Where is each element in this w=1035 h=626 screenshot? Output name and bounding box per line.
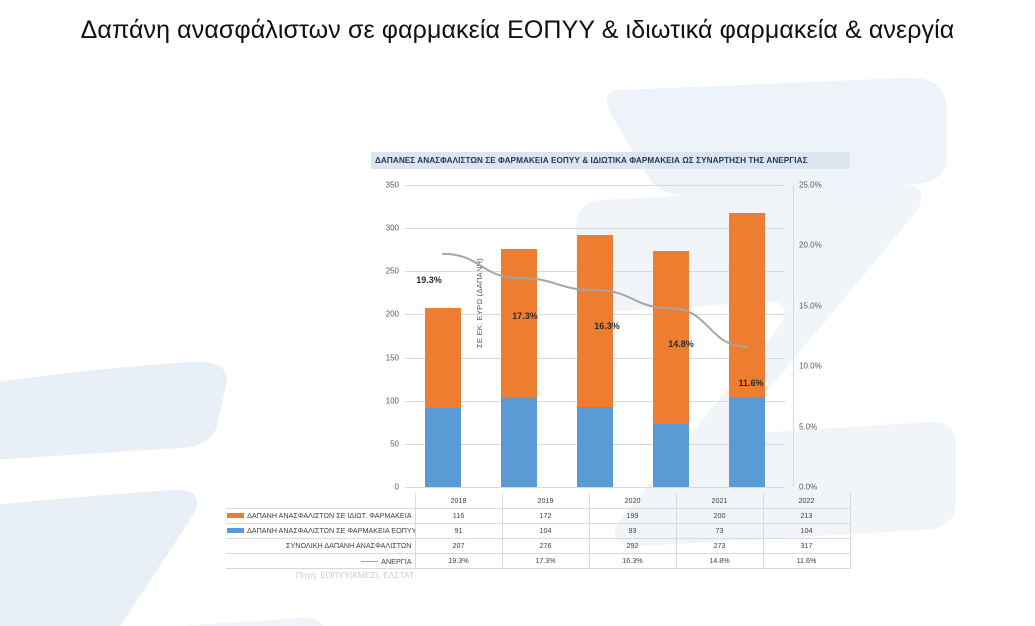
y-axis-tick-label: 50: [390, 439, 399, 448]
legend-label: ΣΥΝΟΛΙΚΗ ΔΑΠΑΝΗ ΑΝΑΣΦΑΛΙΣΤΩΝ: [286, 541, 411, 550]
y-axis-tick-label: 350: [386, 181, 399, 190]
table-cell-value: 73: [676, 523, 763, 538]
line-data-label: 14.8%: [668, 339, 694, 349]
bar-segment-private-pharmacies[interactable]: [653, 251, 689, 424]
table-column-header: 2018: [415, 493, 502, 508]
bar-segment-eopyy-pharmacies[interactable]: [425, 408, 461, 487]
plot-frame: ΣΕ ΕΚ. ΕΥΡΩ (ΔΑΠΑΝΗ) 0501001502002503003…: [352, 180, 814, 492]
y2-axis-tick-label: 20.0%: [799, 241, 822, 250]
table-cell-value: 199: [589, 508, 676, 523]
line-data-label: 11.6%: [738, 378, 763, 388]
y-axis-tick-label: 150: [386, 353, 399, 362]
bar-segment-eopyy-pharmacies[interactable]: [729, 397, 765, 487]
y2-axis-tick-label: 10.0%: [799, 362, 822, 371]
stacked-bar[interactable]: [501, 249, 537, 487]
table-cell-value: 93: [589, 523, 676, 538]
table-cell-value: 213: [763, 508, 850, 523]
table-cell-value: 14.8%: [676, 553, 763, 568]
legend-label: ΔΑΠΑΝΗ ΑΝΑΣΦΑΛΙΣΤΩΝ ΣΕ ΦΑΡΜΑΚΕΙΑ ΕΟΠΥΥ: [247, 526, 415, 535]
y2-axis-tick-label: 0.0%: [799, 483, 817, 492]
table-cell-value: 91: [415, 523, 502, 538]
table-column-header: 2022: [763, 493, 850, 508]
legend-swatch-icon: [266, 543, 283, 548]
table-row: ΔΑΠΑΝΗ ΑΝΑΣΦΑΛΙΣΤΩΝ ΣΕ ΦΑΡΜΑΚΕΙΑ ΕΟΠΥΥ91…: [226, 523, 850, 538]
bar-segment-private-pharmacies[interactable]: [425, 308, 461, 408]
chart-title-band: ΔΑΠΑΝΕΣ ΑΝΑΣΦΑΛΙΣΤΩΝ ΣΕ ΦΑΡΜΑΚΕΙΑ ΕΟΠΥΥ …: [371, 152, 850, 169]
table-cell-value: 317: [763, 538, 850, 553]
table-corner-cell: [226, 493, 415, 508]
table-row: ΑΝΕΡΓΙΑ19.3%17.3%16.3%14.8%11.6%: [226, 553, 850, 568]
line-data-label: 19.3%: [416, 275, 442, 285]
table-cell-value: 200: [676, 508, 763, 523]
slide-canvas: Δαπάνη ανασφάλιστων σε φαρμακεία ΕΟΠΥΥ &…: [0, 0, 1035, 626]
bar-group[interactable]: [633, 185, 709, 487]
y2-axis-tick-label: 5.0%: [799, 422, 817, 431]
bar-group[interactable]: [709, 185, 785, 487]
gridline: [405, 487, 785, 488]
table-header-row: 20182019202020212022: [226, 493, 850, 508]
table-series-label: ΔΑΠΑΝΗ ΑΝΑΣΦΑΛΙΣΤΩΝ ΣΕ ΦΑΡΜΑΚΕΙΑ ΕΟΠΥΥ: [226, 523, 415, 538]
bar-segment-private-pharmacies[interactable]: [729, 213, 765, 397]
y2-axis-tick-label: 15.0%: [799, 301, 822, 310]
table-cell-value: 104: [763, 523, 850, 538]
y-axis-tick-label: 0: [395, 483, 399, 492]
slide-title: Δαπάνη ανασφάλιστων σε φαρμακεία ΕΟΠΥΥ &…: [0, 16, 1035, 45]
table-column-header: 2021: [676, 493, 763, 508]
y2-axis-tick-label: 25.0%: [799, 181, 822, 190]
secondary-axis-line: [793, 185, 794, 487]
plot-area: 0501001502002503003500.0%5.0%10.0%15.0%2…: [405, 185, 785, 487]
bar-group[interactable]: [481, 185, 557, 487]
bar-segment-private-pharmacies[interactable]: [501, 249, 537, 397]
stacked-bar[interactable]: [425, 308, 461, 487]
stacked-bar[interactable]: [729, 213, 765, 487]
bar-group[interactable]: [557, 185, 633, 487]
y-axis-tick-label: 250: [386, 267, 399, 276]
y-axis-tick-label: 300: [386, 224, 399, 233]
table-cell-value: 116: [415, 508, 502, 523]
legend-swatch-icon: [227, 528, 244, 533]
stacked-bar[interactable]: [577, 235, 613, 487]
source-note: Πηγή: ΕΟΠΥΥ(ΚΜΕΣ), ΕΛΣΤΑΤ: [296, 570, 414, 580]
line-data-label: 16.3%: [594, 321, 620, 331]
table-cell-value: 207: [415, 538, 502, 553]
chart-object[interactable]: ΔΑΠΑΝΕΣ ΑΝΑΣΦΑΛΙΣΤΩΝ ΣΕ ΦΑΡΜΑΚΕΙΑ ΕΟΠΥΥ …: [226, 152, 850, 594]
bar-segment-eopyy-pharmacies[interactable]: [577, 407, 613, 487]
legend-swatch-icon: [227, 513, 244, 518]
bar-group[interactable]: [405, 185, 481, 487]
table-series-label: ΑΝΕΡΓΙΑ: [226, 553, 415, 568]
legend-label: ΑΝΕΡΓΙΑ: [381, 557, 411, 566]
table-cell-value: 11.6%: [763, 553, 850, 568]
table-column-header: 2019: [502, 493, 589, 508]
table-cell-value: 104: [502, 523, 589, 538]
table-series-label: ΔΑΠΑΝΗ ΑΝΑΣΦΑΛΙΣΤΩΝ ΣΕ ΙΔΙΩΤ. ΦΑΡΜΑΚΕΙΑ: [226, 508, 415, 523]
table-cell-value: 17.3%: [502, 553, 589, 568]
table-row: ΣΥΝΟΛΙΚΗ ΔΑΠΑΝΗ ΑΝΑΣΦΑΛΙΣΤΩΝ207276292273…: [226, 538, 850, 553]
line-data-label: 17.3%: [512, 311, 538, 321]
table-cell-value: 172: [502, 508, 589, 523]
chart-data-table: 20182019202020212022ΔΑΠΑΝΗ ΑΝΑΣΦΑΛΙΣΤΩΝ …: [226, 493, 851, 569]
table-cell-value: 276: [502, 538, 589, 553]
table-cell-value: 16.3%: [589, 553, 676, 568]
y-axis-tick-label: 200: [386, 310, 399, 319]
bar-segment-eopyy-pharmacies[interactable]: [653, 424, 689, 487]
y-axis-tick-label: 100: [386, 396, 399, 405]
legend-swatch-icon: [361, 561, 378, 563]
table-series-label: ΣΥΝΟΛΙΚΗ ΔΑΠΑΝΗ ΑΝΑΣΦΑΛΙΣΤΩΝ: [226, 538, 415, 553]
table-cell-value: 292: [589, 538, 676, 553]
table-cell-value: 19.3%: [415, 553, 502, 568]
legend-label: ΔΑΠΑΝΗ ΑΝΑΣΦΑΛΙΣΤΩΝ ΣΕ ΙΔΙΩΤ. ΦΑΡΜΑΚΕΙΑ: [247, 511, 411, 520]
table-row: ΔΑΠΑΝΗ ΑΝΑΣΦΑΛΙΣΤΩΝ ΣΕ ΙΔΙΩΤ. ΦΑΡΜΑΚΕΙΑ1…: [226, 508, 850, 523]
bar-segment-eopyy-pharmacies[interactable]: [501, 397, 537, 487]
table-column-header: 2020: [589, 493, 676, 508]
chart-title: ΔΑΠΑΝΕΣ ΑΝΑΣΦΑΛΙΣΤΩΝ ΣΕ ΦΑΡΜΑΚΕΙΑ ΕΟΠΥΥ …: [371, 156, 808, 165]
stacked-bar[interactable]: [653, 251, 689, 487]
table-cell-value: 273: [676, 538, 763, 553]
